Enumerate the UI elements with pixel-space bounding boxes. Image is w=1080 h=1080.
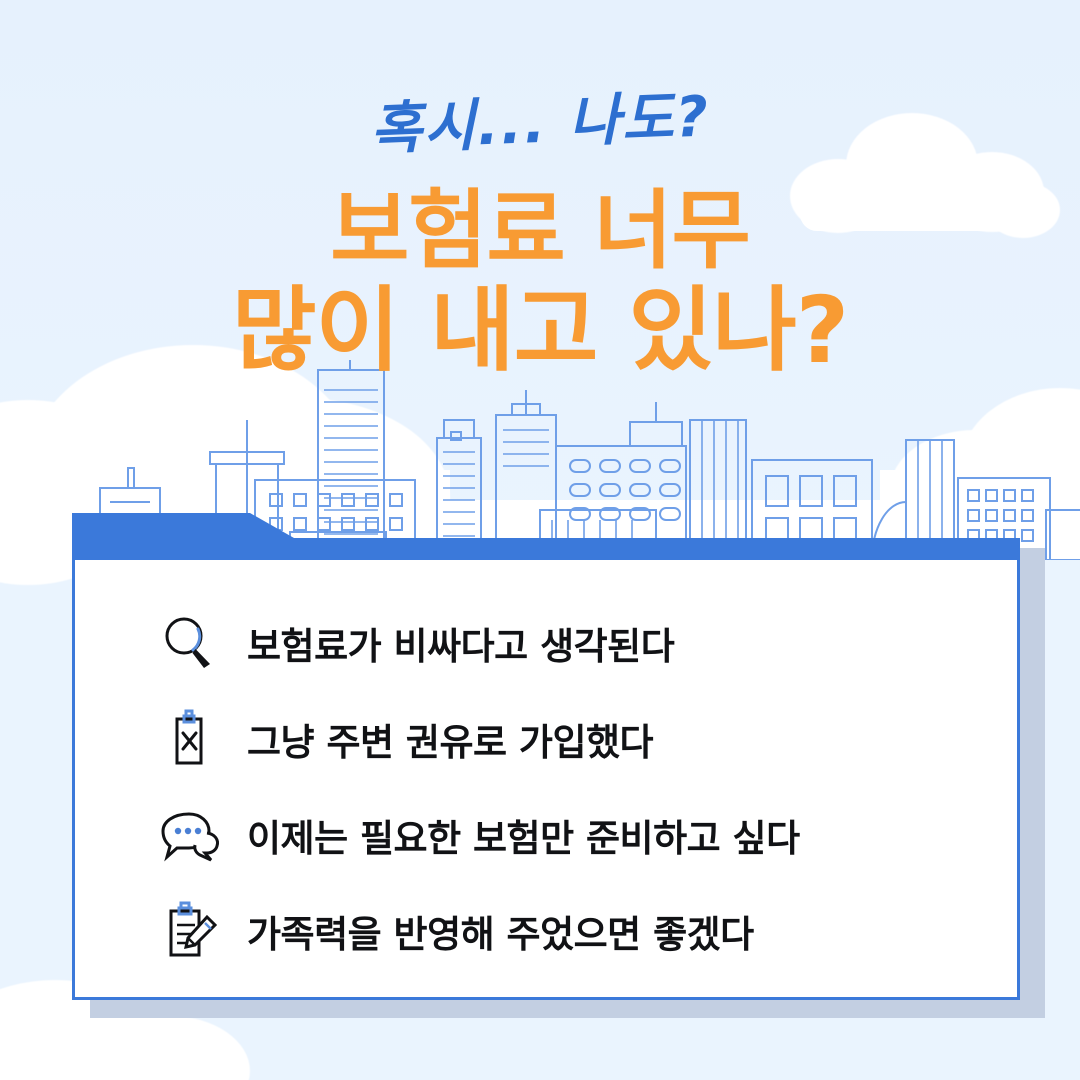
list-item-label: 보험료가 비싸다고 생각된다: [247, 616, 674, 670]
clipboard-pencil-icon: [153, 895, 225, 967]
panel-header-left-segment: [72, 513, 250, 561]
panel-header-step-notch: [250, 513, 294, 561]
list-item[interactable]: 보험료가 비싸다고 생각된다: [153, 598, 1017, 688]
list-item-label: 이제는 필요한 보험만 준비하고 싶다: [247, 808, 800, 862]
page-title: 보험료 너무 많이 내고 있나?: [0, 188, 1080, 378]
headline-line-1: 보험료 너무: [0, 188, 1080, 276]
panel-blue-header-bar: [72, 513, 1020, 561]
list-item-label: 가족력을 반영해 주었으면 좋겠다: [247, 904, 754, 958]
poster-canvas: 혹시... 나도? 보험료 너무 많이 내고 있나? 보험료가 비싸다고 생각된…: [0, 0, 1080, 1080]
magnifier-icon: [153, 607, 225, 679]
list-item[interactable]: 그냥 주변 권유로 가입했다: [153, 694, 1017, 784]
list-item[interactable]: 가족력을 반영해 주었으면 좋겠다: [153, 886, 1017, 976]
speech-bubbles-icon: [153, 799, 225, 871]
checklist: 보험료가 비싸다고 생각된다 그냥 주변 권유로 가입했다: [75, 560, 1017, 997]
list-item-label: 그냥 주변 권유로 가입했다: [247, 712, 653, 766]
checklist-panel: 보험료가 비싸다고 생각된다 그냥 주변 권유로 가입했다: [72, 557, 1020, 1000]
clipboard-x-icon: [153, 703, 225, 775]
list-item[interactable]: 이제는 필요한 보험만 준비하고 싶다: [153, 790, 1017, 880]
headline-line-2: 많이 내고 있나?: [0, 284, 1080, 378]
